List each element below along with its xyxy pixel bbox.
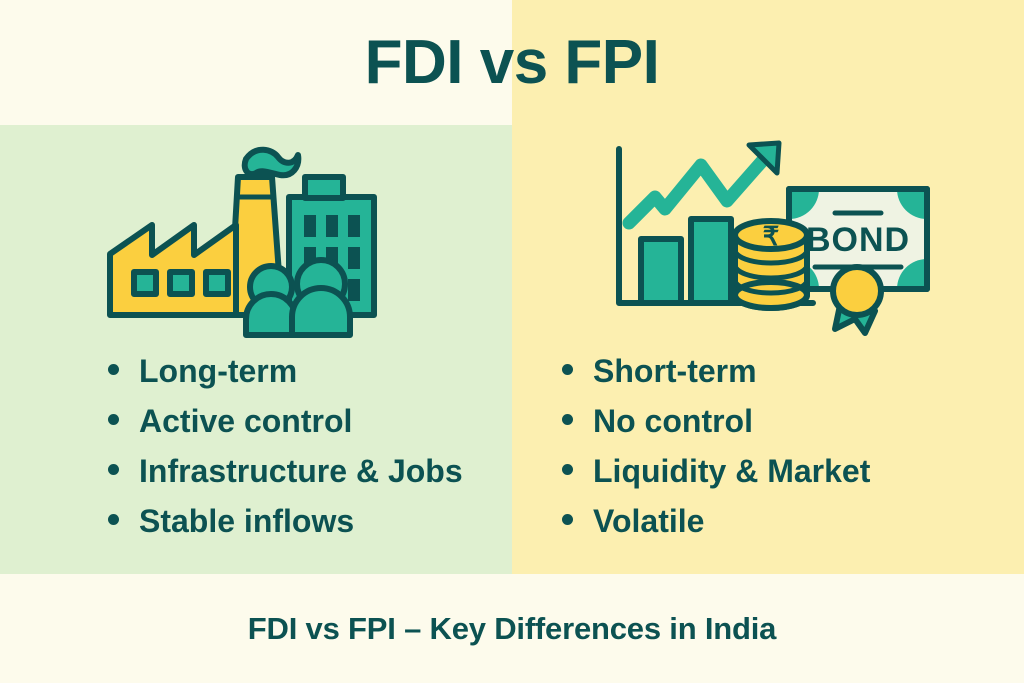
footer-band: FDI vs FPI – Key Differences in India	[0, 574, 1024, 683]
page-title: FDI vs FPI	[0, 0, 1024, 125]
list-item: No control	[562, 403, 1024, 453]
market-investment-icon: BOND	[603, 139, 933, 339]
bullet-dot-icon	[562, 514, 573, 525]
chart-bar-icon	[641, 239, 681, 303]
factory-window-icon	[134, 272, 156, 294]
bullet-dot-icon	[562, 464, 573, 475]
growth-arrow-icon	[629, 143, 779, 223]
footer-caption: FDI vs FPI – Key Differences in India	[248, 611, 776, 647]
bullet-dot-icon	[562, 364, 573, 375]
seal-badge-icon	[833, 267, 881, 333]
bullet-label: Liquidity & Market	[593, 453, 870, 490]
bullet-label: No control	[593, 403, 753, 440]
bond-label: BOND	[806, 221, 910, 259]
list-item: Volatile	[562, 503, 1024, 553]
fpi-bullet-list: Short-term No control Liquidity & Market…	[0, 353, 1024, 553]
bullet-label: Short-term	[593, 353, 757, 390]
comparison-panels: Long-term Active control Infrastructure …	[0, 125, 1024, 574]
bullet-label: Volatile	[593, 503, 704, 540]
rupee-symbol-icon: ₹	[763, 221, 780, 251]
rupee-coin-stack-icon: ₹	[735, 221, 807, 308]
fpi-icon-area: BOND	[512, 131, 1024, 346]
fdi-icon-area	[0, 131, 512, 346]
factory-window-icon	[206, 272, 228, 294]
panel-fpi: BOND	[512, 125, 1024, 574]
factory-window-icon	[170, 272, 192, 294]
infographic-root: FDI vs FPI	[0, 0, 1024, 683]
list-item: Liquidity & Market	[562, 453, 1024, 503]
people-group-icon	[246, 260, 350, 335]
factory-icon	[106, 139, 406, 339]
smoke-puff-icon	[245, 149, 299, 175]
building-roof-box-icon	[305, 177, 343, 198]
chart-bar-icon	[691, 219, 731, 303]
list-item: Short-term	[562, 353, 1024, 403]
bullet-dot-icon	[562, 414, 573, 425]
